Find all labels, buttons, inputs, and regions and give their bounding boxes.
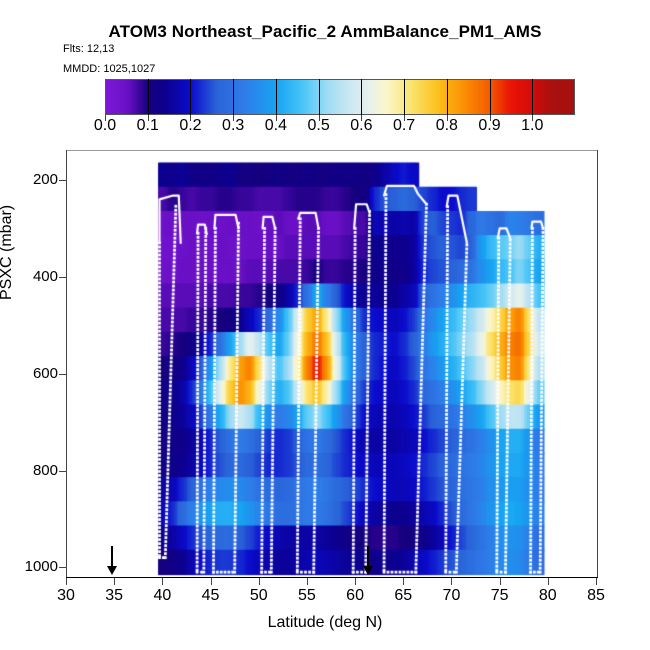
flights-annotation: Flts: 12,13 — [63, 43, 114, 55]
x-axis-tick — [355, 578, 356, 585]
x-axis-label: Latitude (deg N) — [0, 614, 650, 632]
lat-marker-1 — [105, 546, 119, 576]
mmdd-annotation: MMDD: 1025,1027 — [63, 63, 155, 75]
colorbar-separator — [148, 79, 149, 115]
colorbar-separator — [190, 79, 191, 115]
axis-left — [66, 150, 67, 578]
x-axis-tick — [162, 578, 163, 585]
y-axis-tick-label: 800 — [16, 464, 58, 478]
axis-bottom — [66, 577, 598, 578]
y-axis-tick — [59, 180, 66, 181]
x-axis-tick — [259, 578, 260, 585]
x-axis-tick — [500, 578, 501, 585]
x-axis-tick — [114, 578, 115, 585]
x-axis-tick — [403, 578, 404, 585]
colorbar-separator — [361, 79, 362, 115]
colorbar-separator — [532, 79, 533, 115]
x-axis-tick — [548, 578, 549, 585]
colorbar-separator — [233, 79, 234, 115]
y-axis-tick-label: 400 — [16, 270, 58, 284]
y-axis-tick — [59, 567, 66, 568]
plot-area: 2004006008001000 30354045505560657075808… — [66, 150, 598, 578]
colorbar-separator — [490, 79, 491, 115]
colorbar-tick-label: 1.0 — [502, 117, 562, 135]
page-title: ATOM3 Northeast_Pacific_2 AmmBalance_PM1… — [0, 22, 650, 42]
colorbar-separator — [404, 79, 405, 115]
lat-marker-2 — [361, 546, 375, 576]
x-axis-tick-label: 85 — [566, 587, 626, 605]
x-axis-tick — [307, 578, 308, 585]
x-axis-tick — [66, 578, 67, 585]
y-axis-tick — [59, 374, 66, 375]
y-axis-label: PSXC (mbar) — [0, 205, 16, 300]
x-axis-tick — [596, 578, 597, 585]
y-axis-tick — [59, 277, 66, 278]
axis-top — [66, 150, 598, 151]
axis-right — [597, 150, 598, 578]
colorbar-separator — [447, 79, 448, 115]
y-axis-tick-label: 1000 — [16, 560, 58, 574]
x-axis-tick — [451, 578, 452, 585]
colorbar-tick-labels: 0.00.10.20.30.40.50.60.70.80.91.0 — [75, 117, 605, 139]
x-axis-tick — [211, 578, 212, 585]
figure-root: ATOM3 Northeast_Pacific_2 AmmBalance_PM1… — [0, 0, 650, 650]
heatmap-canvas — [67, 151, 597, 577]
colorbar-separator — [319, 79, 320, 115]
colorbar-separator — [276, 79, 277, 115]
y-axis-tick — [59, 471, 66, 472]
colorbar-separators — [105, 79, 575, 115]
colorbar: 0.00.10.20.30.40.50.60.70.80.91.0 — [105, 79, 575, 115]
y-axis-tick-label: 600 — [16, 367, 58, 381]
y-axis-tick-label: 200 — [16, 173, 58, 187]
